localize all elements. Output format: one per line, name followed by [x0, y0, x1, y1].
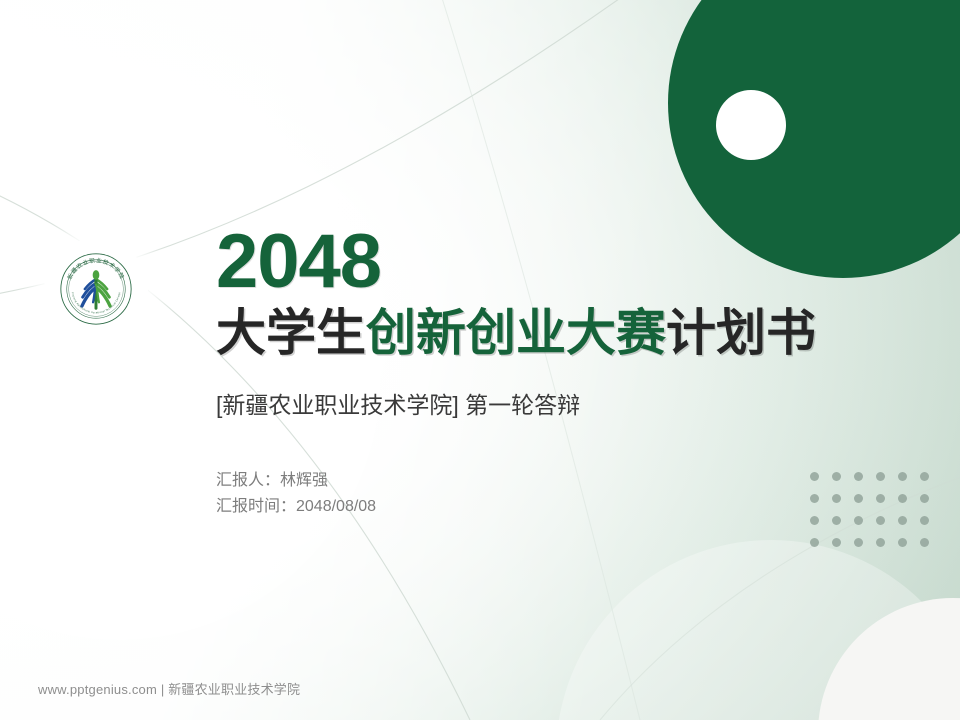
- title-segment-dark-left: 大学生: [216, 305, 366, 361]
- title-segment-green: 创新创业大赛: [366, 305, 666, 361]
- university-crest-icon: 新疆农业职业技术学院 Xinjiang Agricultural Vocatio…: [59, 252, 133, 326]
- dot: [876, 538, 885, 547]
- title-segment-dark-right: 计划书: [666, 305, 816, 361]
- dot: [854, 538, 863, 547]
- date-line: 汇报时间：2048/08/08: [216, 494, 916, 520]
- dot: [810, 538, 819, 547]
- title-text-block: 2048 大学生创新创业大赛计划书 [新疆农业职业技术学院] 第一轮答辩 汇报人…: [216, 222, 916, 520]
- dot: [920, 472, 929, 481]
- dot: [898, 538, 907, 547]
- page-title: 大学生创新创业大赛计划书: [216, 302, 916, 364]
- university-logo: 新疆农业职业技术学院 Xinjiang Agricultural Vocatio…: [59, 252, 133, 326]
- subtitle: [新疆农业职业技术学院] 第一轮答辩: [216, 390, 916, 420]
- presenter-line: 汇报人：林辉强: [216, 468, 916, 494]
- footer-credit: www.pptgenius.com | 新疆农业职业技术学院: [38, 679, 300, 698]
- decorative-white-circle-accent: [716, 90, 786, 160]
- dot: [832, 538, 841, 547]
- dot: [920, 516, 929, 525]
- dot: [920, 494, 929, 503]
- presentation-title-slide: 新疆农业职业技术学院 Xinjiang Agricultural Vocatio…: [0, 0, 960, 720]
- year-heading: 2048: [216, 222, 916, 302]
- presentation-meta: 汇报人：林辉强 汇报时间：2048/08/08: [216, 468, 916, 520]
- dot: [920, 538, 929, 547]
